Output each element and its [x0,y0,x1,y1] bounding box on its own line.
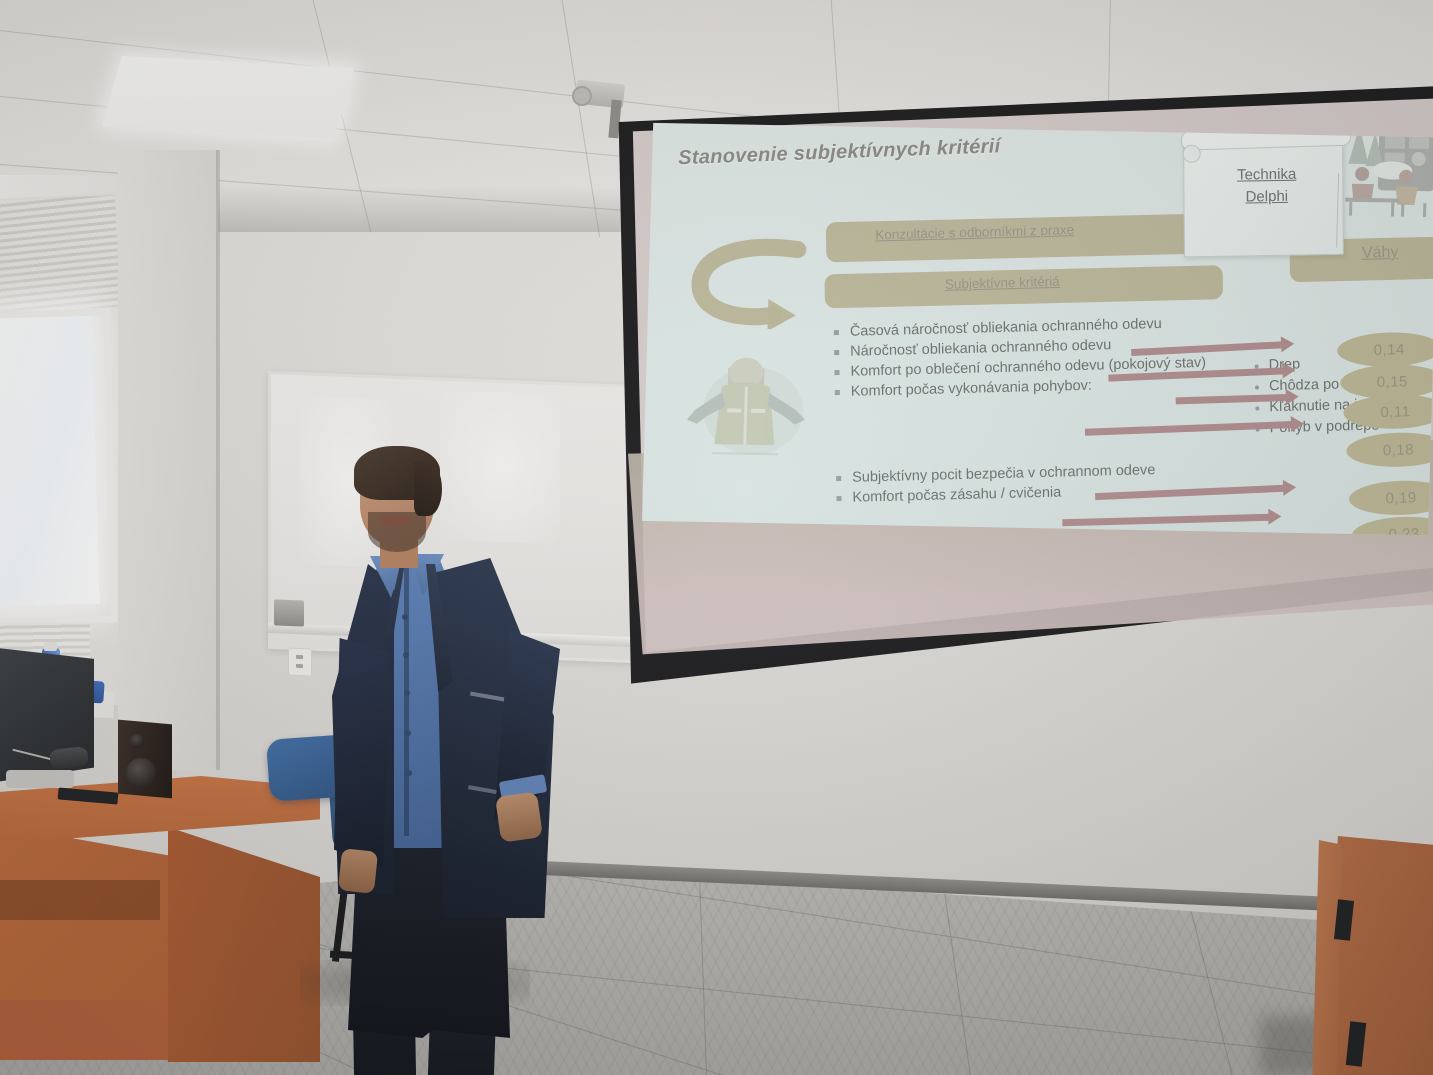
wall-bracket [274,599,304,626]
slide-canvas: Stanovenie subjektívnych kritérií Konzul… [642,123,1433,536]
wall-power-outlet [288,647,312,676]
presenter-person [318,438,568,998]
delphi-line-1: Technika [1208,163,1326,187]
presenter-left-hand [338,848,378,894]
wall-pilaster [118,150,218,770]
projected-slide: Stanovenie subjektívnych kritérií Konzul… [624,88,1433,543]
presenter-smile [380,516,412,526]
expert-panel-meeting-clipart-icon [1339,123,1433,218]
presenter-right-hand [495,791,543,842]
weight-pill-1: 0,14 [1337,331,1433,368]
ceiling-light-panel [102,56,355,138]
shirt-placket [404,566,409,836]
shirt-button [402,614,408,620]
window-frame [0,308,118,625]
shirt-button [405,730,411,736]
circular-return-arrow-icon [687,236,808,330]
process-bar-criteria-label: Subjektívne kritériá [945,274,1060,292]
delphi-callout-text: Technika Delphi [1208,163,1326,209]
speaker-woofer [126,758,156,788]
presenter-hair-side [414,462,442,516]
weights-header-label: Váhy [1362,244,1399,263]
speaker-tweeter [130,734,144,748]
roller-end-cap [572,86,592,106]
presenter-left-arm [334,638,390,868]
shirt-button [404,690,410,696]
weight-pill-5: 0,19 [1349,479,1433,516]
desk-lower-panel [0,1000,170,1060]
criteria-list: Časová náročnosť obliekania ochranného o… [832,310,1305,508]
monitor-stand [6,770,74,788]
shirt-button [403,652,409,658]
shirt-button [406,770,412,776]
bottle-cap [44,642,57,651]
delphi-line-2: Delphi [1208,185,1326,209]
weight-arrow-6 [1062,514,1270,527]
firefighter-protective-suit-figure-icon [682,352,811,472]
slide-title: Stanovenie subjektívnych kritérií [678,135,1001,170]
wall-corner-edge [216,150,220,770]
weight-pill-6: 0,23 [1352,516,1433,536]
desk-shelf [0,880,160,920]
window-blind-upper[interactable] [0,193,123,316]
classroom-photo: Stanovenie subjektívnych kritérií Konzul… [0,0,1433,1075]
